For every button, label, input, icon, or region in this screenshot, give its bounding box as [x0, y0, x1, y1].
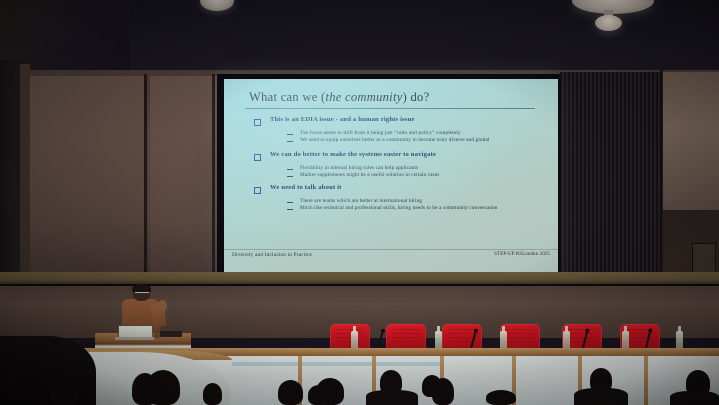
list-item: Market supplements might be a useful sol… [287, 172, 439, 178]
slide-sub-1-1: The focus needs to shift from it being j… [300, 130, 461, 136]
slide-footer: Diversity and Inclusion in Practice STEP… [224, 252, 558, 258]
audience-shoulders [670, 391, 719, 405]
dash-bullet-icon [287, 134, 293, 135]
podium-small-object [154, 333, 160, 338]
list-item: Flexibility in internal hiring rules can… [287, 165, 439, 171]
slide-heading-row-3: We need to talk about it [254, 184, 498, 194]
title-divider [245, 108, 535, 109]
audience-shoulders [366, 390, 418, 405]
podium-device [160, 331, 182, 337]
dash-bullet-icon [287, 202, 293, 203]
panel-chair [330, 324, 370, 350]
wall-seam-a [144, 74, 147, 282]
panel-chair [386, 324, 426, 350]
slide-sublist-1: The focus needs to shift from it being j… [287, 130, 489, 144]
slide-sub-1-2: We need to equip ourselves better as a c… [300, 137, 489, 143]
slide-block-2: We can do better to make the systems eas… [254, 151, 439, 180]
list-item: We need to equip ourselves better as a c… [287, 137, 489, 143]
audience-shoulders [574, 388, 628, 405]
dash-bullet-icon [287, 176, 293, 177]
dash-bullet-icon [287, 169, 293, 170]
presentation-slide: What can we (the community) do? This is … [224, 79, 558, 275]
slide-title-italic: the community [325, 90, 402, 104]
audience-head [146, 370, 180, 405]
slide-heading-3: We need to talk about it [270, 184, 342, 191]
laptop-base [115, 337, 154, 340]
slide-sub-2-1: Flexibility in internal hiring rules can… [300, 165, 418, 171]
slide-sub-3-1: There are teams which are better at inte… [300, 198, 422, 204]
slide-sub-3-2: Much like technical and professional ski… [300, 205, 498, 211]
projection-screen: What can we (the community) do? This is … [224, 79, 558, 275]
wall-seam-b [212, 74, 215, 282]
list-item: Much like technical and professional ski… [287, 205, 498, 211]
square-bullet-icon [254, 187, 261, 194]
list-item: The focus needs to shift from it being j… [287, 130, 489, 136]
conference-hall-scene: What can we (the community) do? This is … [0, 0, 719, 405]
slide-block-3: We need to talk about it There are teams… [254, 184, 498, 213]
slide-heading-1: This is an EDIA issue - and a human righ… [270, 116, 415, 123]
slide-heading-row-1: This is an EDIA issue - and a human righ… [254, 116, 489, 126]
slide-footer-divider [224, 249, 558, 250]
slide-block-1: This is an EDIA issue - and a human righ… [254, 116, 489, 145]
slide-sub-2-2: Market supplements might be a useful sol… [300, 172, 439, 178]
audience-head [486, 390, 516, 405]
dash-bullet-icon [287, 209, 293, 210]
slide-heading-row-2: We can do better to make the systems eas… [254, 151, 439, 161]
desk-reflection-band [232, 362, 442, 366]
slide-title: What can we (the community) do? [249, 90, 429, 105]
speaker-hand [158, 300, 167, 312]
slide-heading-2: We can do better to make the systems eas… [270, 151, 436, 158]
audience-head [278, 380, 303, 405]
square-bullet-icon [254, 119, 261, 126]
list-item: There are teams which are better at inte… [287, 198, 498, 204]
wall-panel-left-a [26, 76, 144, 281]
wall-right-upper [663, 72, 719, 212]
square-bullet-icon [254, 154, 261, 161]
slide-sublist-3: There are teams which are better at inte… [287, 198, 498, 212]
glasses-icon [135, 292, 149, 296]
slide-title-tail: ) do? [403, 90, 430, 104]
pendant-globe-icon [595, 15, 622, 31]
audience-head [316, 378, 344, 405]
audience-head [203, 383, 222, 405]
audience-head [432, 378, 454, 405]
slide-footer-right: STEP-UP RSLondon 2025 [494, 252, 550, 258]
audience-foreground-silhouette [0, 336, 96, 405]
slide-footer-left: Diversity and Inclusion in Practice [232, 252, 312, 258]
slide-sublist-2: Flexibility in internal hiring rules can… [287, 165, 439, 179]
desk-divider [644, 356, 648, 405]
slide-title-lead: What can we ( [249, 90, 325, 104]
dash-bullet-icon [287, 141, 293, 142]
audience-head [50, 385, 78, 405]
